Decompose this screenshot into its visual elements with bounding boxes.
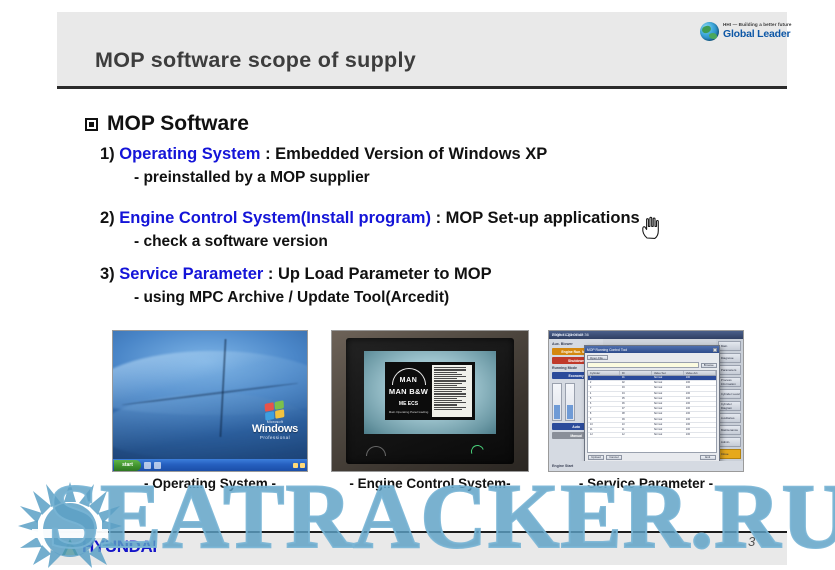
bullet-term: Service Parameter <box>119 265 263 283</box>
sp-parameter-table: Cylinder ID Value Set Value Act. 1 01 No… <box>587 370 717 453</box>
sp-cell: 100 <box>684 381 716 385</box>
sp-cell: 1 <box>588 376 620 380</box>
sp-cell: 09 <box>620 418 652 422</box>
sp-browse-button[interactable]: Browse <box>701 363 717 368</box>
windows-xp-logo: Microsoft Windows Professional <box>252 402 298 441</box>
sp-cell: Normal <box>652 418 684 422</box>
sp-cell: Normal <box>652 412 684 416</box>
sp-column-header: Cylinder <box>588 371 620 375</box>
figure-engine-control-system: MAN MAN B&W ME ECS Main Operating Panel … <box>331 330 529 472</box>
sp-dialog-toolbar: Open File... Browse <box>585 353 719 370</box>
sp-cell: 2 <box>588 381 620 385</box>
sp-open-file-button[interactable]: Open File... <box>587 355 609 360</box>
sp-cell: 100 <box>684 433 716 437</box>
sp-cell: 100 <box>684 407 716 411</box>
sp-cell: Normal <box>652 376 684 380</box>
xp-start-label: start <box>122 462 133 468</box>
brand-text-stack: HHI — Building a better future Global Le… <box>723 23 792 39</box>
windows-label: Windows <box>252 424 298 435</box>
sp-cell: 9 <box>588 418 620 422</box>
sp-dialog-window: MOP Running Control Tool Open File... Br… <box>584 345 720 463</box>
sp-cell: Normal <box>652 433 684 437</box>
sp-cell: Normal <box>652 392 684 396</box>
sp-cell: 02 <box>620 381 652 385</box>
sp-cell: 11 <box>588 428 620 432</box>
sp-cell: 100 <box>684 412 716 416</box>
sp-column-header: Value Act. <box>684 371 716 375</box>
sp-upload-button[interactable]: Upload <box>588 455 604 460</box>
sp-cell: Normal <box>652 402 684 406</box>
hand-pointer-cursor <box>640 214 662 240</box>
sp-cell: 100 <box>684 423 716 427</box>
sp-nav-button-active[interactable]: Close <box>718 449 741 459</box>
man-arc-label: MAN <box>393 377 425 384</box>
windows-flag-icon <box>265 400 285 421</box>
man-arc-logo-icon: MAN <box>392 368 426 385</box>
sp-cell: Normal <box>652 428 684 432</box>
xp-system-tray[interactable] <box>293 463 305 468</box>
xp-taskbar[interactable]: start <box>113 459 307 471</box>
brand-tagline: HHI — Building a better future <box>723 23 792 28</box>
figure-image-frame: MAN MAN B&W ME ECS Main Operating Panel … <box>331 330 529 472</box>
globe-icon <box>700 22 719 41</box>
sp-cell: 04 <box>620 392 652 396</box>
sp-exit-button[interactable]: Exit <box>700 455 716 460</box>
sp-cell: 5 <box>588 397 620 401</box>
figure-image-frame: Microsoft Windows Professional start <box>112 330 308 472</box>
square-bullet-icon <box>85 118 98 131</box>
sp-nav-button[interactable]: Process Information <box>718 377 741 387</box>
sp-nav-button[interactable]: Auxiliaries <box>718 413 741 423</box>
page-number: 3 <box>748 534 755 549</box>
sp-nav-panel: Main Diagnose Parameters Process Informa… <box>716 339 743 461</box>
sp-cell: 3 <box>588 386 620 390</box>
figure-caption: - Operating System - <box>112 476 308 491</box>
man-bw-subtitle-label: Main Operating Panel loading <box>389 410 429 414</box>
sp-cancel-button[interactable]: Cancel <box>606 455 622 460</box>
sp-dialog-title-label: MOP Running Control Tool <box>587 348 627 352</box>
bullet-number: 2) <box>100 209 115 227</box>
brand-name: Global Leader <box>723 29 792 40</box>
figure-operating-system: Microsoft Windows Professional start - O… <box>112 330 308 472</box>
slide-footer-band <box>50 533 787 565</box>
sp-nav-button[interactable]: Admin. <box>718 437 741 447</box>
sp-column-header: ID <box>620 371 652 375</box>
mop-panel-photo: MAN MAN B&W ME ECS Main Operating Panel … <box>332 331 528 471</box>
mop-panel-bezel: MAN MAN B&W ME ECS Main Operating Panel … <box>346 338 515 464</box>
sp-nav-button[interactable]: Cylinder Diagram <box>718 401 741 411</box>
bullet-description: MOP Set-up applications <box>446 209 640 227</box>
sp-cell: 01 <box>620 376 652 380</box>
bullet-main-line: 1) Operating System : Embedded Version o… <box>100 144 547 165</box>
section-heading: MOP Software <box>85 112 249 136</box>
sp-cell: 4 <box>588 392 620 396</box>
sp-nav-button[interactable]: Cylinder Level <box>718 389 741 399</box>
sp-cell: 12 <box>588 433 620 437</box>
man-bw-logo-block: MAN MAN B&W ME ECS Main Operating Panel … <box>385 362 431 420</box>
sp-column-header: Value Set <box>652 371 684 375</box>
sp-nav-button[interactable]: Parameters <box>718 365 741 375</box>
sp-dialog-titlebar: MOP Running Control Tool <box>585 346 719 353</box>
sp-gauge <box>552 383 562 421</box>
bullet-main-line: 2) Engine Control System(Install program… <box>100 208 640 229</box>
sp-cell: 100 <box>684 386 716 390</box>
mop-bezel-badge-icon <box>366 446 386 456</box>
sp-cell: 100 <box>684 418 716 422</box>
mop-panel-screen: MAN MAN B&W ME ECS Main Operating Panel … <box>364 351 495 434</box>
bullet-sub-line: - check a software version <box>134 232 640 251</box>
man-bw-model-label: ME ECS <box>399 401 418 407</box>
sp-cell: 10 <box>588 423 620 427</box>
footer-divider-rule <box>50 531 787 533</box>
figure-service-parameter: Engine Operation 2009-11-23 07:47:36 Aux… <box>548 330 744 472</box>
list-item: 3) Service Parameter : Up Load Parameter… <box>100 264 492 307</box>
sp-bottom-bar: Engine Start <box>549 461 743 471</box>
sp-nav-button[interactable]: Diagnose <box>718 353 741 363</box>
sp-clock: 2009-11-23 07:47:36 <box>552 332 721 337</box>
sp-cell: Normal <box>652 397 684 401</box>
sp-cell: 11 <box>620 428 652 432</box>
sp-file-path-input[interactable] <box>587 362 699 368</box>
sp-cell: 12 <box>620 433 652 437</box>
figure-strip: Microsoft Windows Professional start - O… <box>0 330 835 500</box>
bullet-description: Up Load Parameter to MOP <box>278 265 492 283</box>
sp-cell: 06 <box>620 402 652 406</box>
sp-cell: 100 <box>684 428 716 432</box>
sp-cell: 8 <box>588 412 620 416</box>
sp-gauge <box>565 383 575 421</box>
sp-cell: 03 <box>620 386 652 390</box>
windows-xp-desktop-image: Microsoft Windows Professional start <box>113 331 307 471</box>
xp-quicklaunch-icon[interactable] <box>144 462 151 469</box>
hyundai-wordmark: HYUNDAI <box>82 537 157 557</box>
splash-text-lines <box>432 365 472 417</box>
sp-cell: 05 <box>620 397 652 401</box>
sp-cell: Normal <box>652 386 684 390</box>
page-title: MOP software scope of supply <box>95 48 416 73</box>
sp-dialog-close-icon[interactable] <box>713 348 717 352</box>
sp-cell: 100 <box>684 392 716 396</box>
sp-cell: 07 <box>620 407 652 411</box>
sp-cell: Normal <box>652 381 684 385</box>
bullet-number: 1) <box>100 145 115 163</box>
bullet-sub-line: - preinstalled by a MOP supplier <box>134 168 547 187</box>
mop-power-led-icon <box>469 443 486 460</box>
sp-cell: 100 <box>684 376 716 380</box>
sp-cell: 100 <box>684 402 716 406</box>
man-bw-brand-label: MAN B&W <box>389 387 428 396</box>
bullet-main-line: 3) Service Parameter : Up Load Parameter… <box>100 264 492 285</box>
sp-nav-button[interactable]: Main <box>718 341 741 351</box>
sp-window-titlebar: Engine Operation 2009-11-23 07:47:36 <box>549 331 743 339</box>
list-item: 1) Operating System : Embedded Version o… <box>100 144 547 187</box>
table-row[interactable]: 12 12 Normal 100 <box>588 433 716 438</box>
bullet-description: Embedded Version of Windows XP <box>275 145 547 163</box>
header-divider-rule <box>57 86 787 89</box>
bullet-separator: : <box>260 145 275 163</box>
sp-cell: 100 <box>684 397 716 401</box>
windows-edition-label: Professional <box>260 436 290 441</box>
bullet-term: Engine Control System(Install program) <box>119 209 431 227</box>
sp-cell: Normal <box>652 407 684 411</box>
bullet-separator: : <box>431 209 446 227</box>
bullet-term: Operating System <box>119 145 260 163</box>
bullet-separator: : <box>263 265 278 283</box>
xp-quicklaunch-icon[interactable] <box>154 462 161 469</box>
sp-cell: Normal <box>652 423 684 427</box>
figure-image-frame: Engine Operation 2009-11-23 07:47:36 Aux… <box>548 330 744 472</box>
sp-nav-button[interactable]: Maintenance <box>718 425 741 435</box>
bullet-sub-line: - using MPC Archive / Update Tool(Arcedi… <box>134 288 492 307</box>
list-item: 2) Engine Control System(Install program… <box>100 208 640 251</box>
hyundai-logo: HYUNDAI <box>62 537 157 557</box>
figure-caption: - Service Parameter - <box>548 476 744 491</box>
man-bw-splash-screen: MAN MAN B&W ME ECS Main Operating Panel … <box>385 362 474 420</box>
service-parameter-screenshot: Engine Operation 2009-11-23 07:47:36 Aux… <box>549 331 743 471</box>
hhi-global-leader-logo: HHI — Building a better future Global Le… <box>700 18 792 44</box>
hyundai-triangle-icon <box>62 539 79 555</box>
sp-bottom-label: Engine Start <box>552 464 573 468</box>
bullet-number: 3) <box>100 265 115 283</box>
section-heading-label: MOP Software <box>107 112 249 136</box>
sp-cell: 08 <box>620 412 652 416</box>
xp-start-button[interactable]: start <box>114 460 141 471</box>
slide-canvas: MOP software scope of supply HHI — Build… <box>0 0 835 570</box>
sp-cell: 7 <box>588 407 620 411</box>
sp-cell: 6 <box>588 402 620 406</box>
sp-cell: 10 <box>620 423 652 427</box>
figure-caption: - Engine Control System- <box>331 476 529 491</box>
